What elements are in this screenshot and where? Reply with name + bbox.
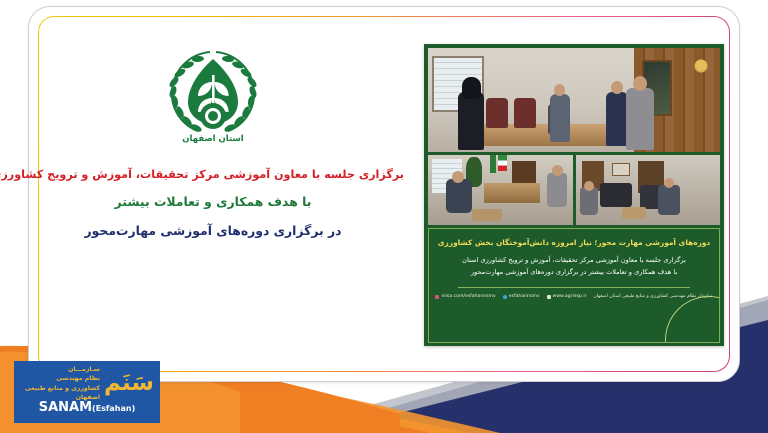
photo-row [428, 155, 720, 225]
headline-line-3: در برگزاری دوره‌های آموزشی مهارت‌محور [22, 221, 404, 240]
collage-body: برگزاری جلسه با معاون آموزشی مرکز تحقیقا… [429, 247, 719, 278]
footer-org-name: سازمان نظام مهندسی کشاورزی و منابع طبیعی… [594, 294, 713, 299]
headline-block: برگزاری جلسه با معاون آموزشی مرکز تحقیقا… [22, 166, 404, 240]
sanam-lines-fa: سـازمـــان نظام مهندسی کشاورزی و منابع ط… [18, 365, 100, 402]
collage-body-line-1: برگزاری جلسه با معاون آموزشی مرکز تحقیقا… [443, 254, 705, 266]
collage-footer: سازمان نظام مهندسی کشاورزی و منابع طبیعی… [429, 294, 719, 299]
collage-body-line-2: با هدف همکاری و تعاملات بیشتر در برگزاری… [443, 266, 705, 278]
headline-line-1: برگزاری جلسه با معاون آموزشی مرکز تحقیقا… [22, 166, 404, 183]
footer-link-telegram-label: esfahannsmv [509, 294, 540, 299]
headline-line-2: با هدف همکاری و تعاملات بیشتر [22, 192, 404, 211]
telegram-icon [503, 295, 507, 299]
collage-text-panel: دوره‌های آموزشی مهارت محور؛ نیاز امروزه … [428, 228, 720, 343]
photo-office-desk-right [428, 155, 573, 225]
footer-link-instagram-label: niisa.com/esfahannsmv [441, 294, 495, 299]
photo-collage-card: دوره‌های آموزشی مهارت محور؛ نیاز امروزه … [424, 44, 724, 346]
footer-link-instagram[interactable]: niisa.com/esfahannsmv [435, 294, 495, 299]
instagram-icon [435, 295, 439, 299]
poster-canvas: استان اصفهان برگزاری جلسه با معاون آموزش… [0, 0, 768, 433]
sanam-word-fa: سَنَم [104, 372, 154, 395]
photo-office-seating-left [576, 155, 721, 225]
sanam-logo: سَنَم سـازمـــان نظام مهندسی کشاورزی و م… [0, 344, 236, 433]
sanam-line-2: نظام مهندسی [18, 374, 100, 383]
collage-headline: دوره‌های آموزشی مهارت محور؛ نیاز امروزه … [429, 229, 719, 247]
footer-link-website[interactable]: www.agriesp.ir [547, 294, 587, 299]
sanam-name-en-main: SANAM [39, 400, 92, 415]
sanam-name-en: SANAM(Esfahan) [14, 401, 160, 414]
website-icon [547, 295, 551, 299]
sanam-name-en-suffix: (Esfahan) [92, 404, 135, 413]
left-content-column: استان اصفهان برگزاری جلسه با معاون آموزش… [22, 34, 404, 302]
footer-link-website-label: www.agriesp.ir [553, 294, 587, 299]
gold-emblem-icon [692, 56, 710, 76]
sanam-logo-box: سَنَم سـازمـــان نظام مهندسی کشاورزی و م… [14, 361, 160, 423]
divider [458, 287, 690, 288]
sanam-line-1: سـازمـــان [18, 365, 100, 374]
agricultural-engineering-emblem-icon [158, 42, 268, 138]
footer-link-telegram[interactable]: esfahannsmv [503, 294, 540, 299]
photo-office-meeting-wide [428, 48, 720, 152]
